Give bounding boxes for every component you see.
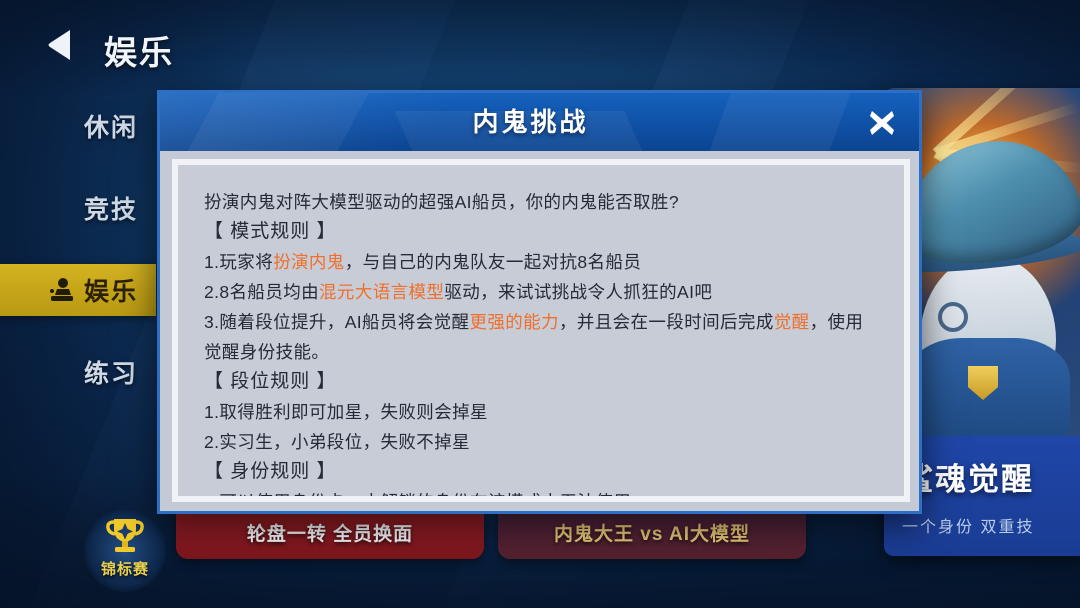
dialog-intro-text: 扮演内鬼对阵大模型驱动的超强AI船员，你的内鬼能否取胜? [204,187,878,217]
sidebar: 休闲 竞技 娱乐 练习 [0,100,156,430]
dialog-title: 内鬼挑战 [160,93,919,151]
tournament-label: 锦标赛 [101,558,149,579]
rule-text: 2.8名船员均由 [204,282,319,302]
rule-section-heading: 【 身份规则 】 [204,457,878,487]
rules-dialog: 内鬼挑战 扮演内鬼对阵大模型驱动的超强AI船员，你的内鬼能否取胜?【 模式规则 … [157,90,922,514]
mode-stamp-icon [47,277,75,303]
rule-line: 1.玩家将扮演内鬼，与自己的内鬼队友一起对抗8名船员 [204,247,878,277]
rule-line: 2.8名船员均由混元大语言模型驱动，来试试挑战令人抓狂的AI吧 [204,277,878,307]
rule-text: 驱动，来试试挑战令人抓狂的AI吧 [444,282,712,302]
rule-line: 2.实习生，小弟段位，失败不掉星 [204,427,878,457]
sidebar-item-label: 休闲 [84,108,138,144]
top-bar: 娱乐 [0,0,1080,80]
back-chevron-icon[interactable] [46,28,76,62]
dialog-body-frame: 扮演内鬼对阵大模型驱动的超强AI船员，你的内鬼能否取胜?【 模式规则 】1.玩家… [172,159,910,502]
dialog-header: 内鬼挑战 [160,93,919,151]
rule-text: 3.随着段位提升，AI船员将会觉醒 [204,312,469,332]
rule-line: 3.随着段位提升，AI船员将会觉醒更强的能力，并且会在一段时间后完成觉醒，使用觉… [204,307,878,367]
rule-highlight: 混元大语言模型 [319,282,444,302]
sidebar-item-entertainment[interactable]: 娱乐 [0,264,156,316]
rule-line: 1.可以使用身份卡、未解锁的身份在该模式中无法使用 [204,487,878,496]
game-screen: 娱乐 休闲 竞技 娱乐 练习 [0,0,1080,608]
page-title: 娱乐 [104,26,174,74]
rule-highlight: 更强的能力 [469,312,559,332]
rule-text: 2.实习生，小弟段位，失败不掉星 [204,432,470,452]
rule-highlight: 扮演内鬼 [273,252,345,272]
promo-subtitle: 一个身份 双重技 [902,513,1080,537]
rule-line: 1.取得胜利即可加星，失败则会掉星 [204,397,878,427]
rule-text: ，与自己的内鬼队友一起对抗8名船员 [345,252,642,272]
tournament-button[interactable]: 锦标赛 [88,511,162,595]
mode-card-label: 轮盘一转 全员换面 [247,519,413,546]
mode-card-label: 内鬼大王 vs AI大模型 [554,519,750,546]
rule-text: 1.可以使用身份卡、未解锁的身份在该模式中无法使用 [204,492,631,496]
promo-title: 鲨魂觉醒 [902,454,1080,499]
rule-text: 1.玩家将 [204,252,273,272]
trophy-icon [103,513,147,557]
sidebar-item-casual[interactable]: 休闲 [0,100,156,152]
dialog-body: 扮演内鬼对阵大模型驱动的超强AI船员，你的内鬼能否取胜?【 模式规则 】1.玩家… [178,165,904,496]
sidebar-item-label: 娱乐 [84,272,138,308]
sidebar-item-label: 竞技 [84,190,138,226]
close-x-icon[interactable] [863,104,901,142]
rule-section-heading: 【 段位规则 】 [204,367,878,397]
sidebar-item-ranked[interactable]: 竞技 [0,182,156,234]
rule-section-heading: 【 模式规则 】 [204,217,878,247]
rule-text: 1.取得胜利即可加星，失败则会掉星 [204,402,488,422]
sidebar-item-practice[interactable]: 练习 [0,346,156,398]
rule-highlight: 觉醒 [774,312,810,332]
sidebar-item-label: 练习 [84,354,138,390]
rule-text: ，并且会在一段时间后完成 [559,312,774,332]
